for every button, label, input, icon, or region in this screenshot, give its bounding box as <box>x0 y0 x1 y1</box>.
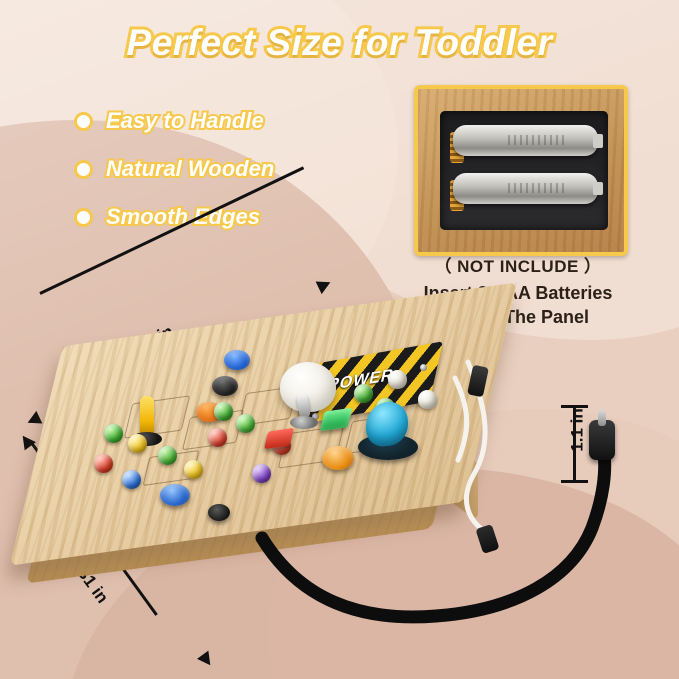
battery-cell <box>453 125 597 156</box>
list-item: Smooth Edges <box>74 204 274 230</box>
white-cord-branch <box>455 378 467 460</box>
list-item: Easy to Handle <box>74 108 274 134</box>
battery-holder <box>440 111 608 230</box>
battery-compartment-photo <box>414 85 628 256</box>
bullet-dot-icon <box>74 208 93 227</box>
dc-plug-tip <box>598 410 606 426</box>
bullet-dot-icon <box>74 112 93 131</box>
wooden-busy-board-photo: 6.69 in 5.31 in 1.1 in <box>0 270 679 679</box>
battery-cell <box>453 173 597 204</box>
black-cable <box>262 454 605 617</box>
feature-label: Natural Wooden <box>106 156 274 182</box>
dc-plug[interactable] <box>589 420 615 460</box>
battery-terminal <box>593 134 603 148</box>
feature-label: Easy to Handle <box>106 108 264 134</box>
screenshot-stage: Perfect Size for Toddler Easy to Handle … <box>0 0 679 679</box>
page-title: Perfect Size for Toddler <box>0 22 679 64</box>
battery-label-print <box>508 135 566 145</box>
bullet-dot-icon <box>74 160 93 179</box>
cable-group <box>0 270 679 679</box>
list-item: Natural Wooden <box>74 156 274 182</box>
battery-label-print <box>508 183 566 193</box>
battery-terminal <box>593 182 603 196</box>
